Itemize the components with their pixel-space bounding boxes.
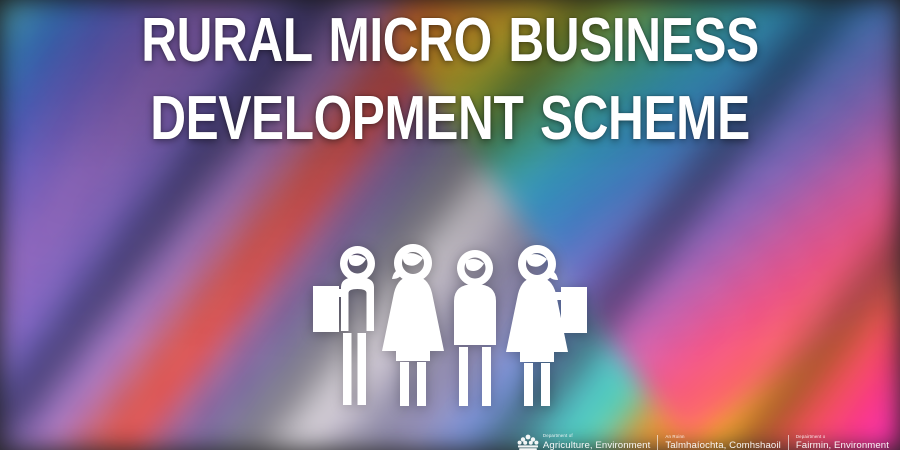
banner-title: RURAL MICRO BUSINESS DEVELOPMENT SCHEME <box>0 2 900 158</box>
logo-kicker: An Roinn <box>665 435 780 439</box>
figure-3-person <box>454 250 496 406</box>
banner-canvas: RURAL MICRO BUSINESS DEVELOPMENT SCHEME <box>0 0 900 450</box>
logo-kicker: Department of <box>543 434 650 438</box>
figure-2-woman <box>382 244 444 406</box>
logo-depairtment-o-fairmin: Depairtment o Fairmin, Environment <box>788 435 896 450</box>
department-logo-bar: Department of Agriculture, Environment A… <box>510 434 896 450</box>
title-line-2: DEVELOPMENT SCHEME <box>90 80 810 158</box>
logo-name: Agriculture, Environment <box>543 441 650 450</box>
shamrock-crest-icon <box>517 434 539 450</box>
logo-department-of-agriculture-environment: Department of Agriculture, Environment <box>510 434 657 450</box>
logo-name: Talmhaíochta, Comhshaoil <box>665 441 780 450</box>
four-people-with-parcels-icon <box>312 244 588 410</box>
figure-4-woman-with-box <box>506 245 587 406</box>
figure-1-man-with-box <box>313 246 375 405</box>
logo-text-agriculture: Department of Agriculture, Environment <box>543 434 650 450</box>
title-line-1: RURAL MICRO BUSINESS <box>90 2 810 80</box>
logo-text-talmhaiochta: An Roinn Talmhaíochta, Comhshaoil <box>665 435 780 450</box>
logo-an-roinn-talmhaiochta: An Roinn Talmhaíochta, Comhshaoil <box>657 435 787 450</box>
logo-text-fairmin: Depairtment o Fairmin, Environment <box>796 435 889 450</box>
logo-kicker: Depairtment o <box>796 435 889 439</box>
logo-name: Fairmin, Environment <box>796 441 889 450</box>
